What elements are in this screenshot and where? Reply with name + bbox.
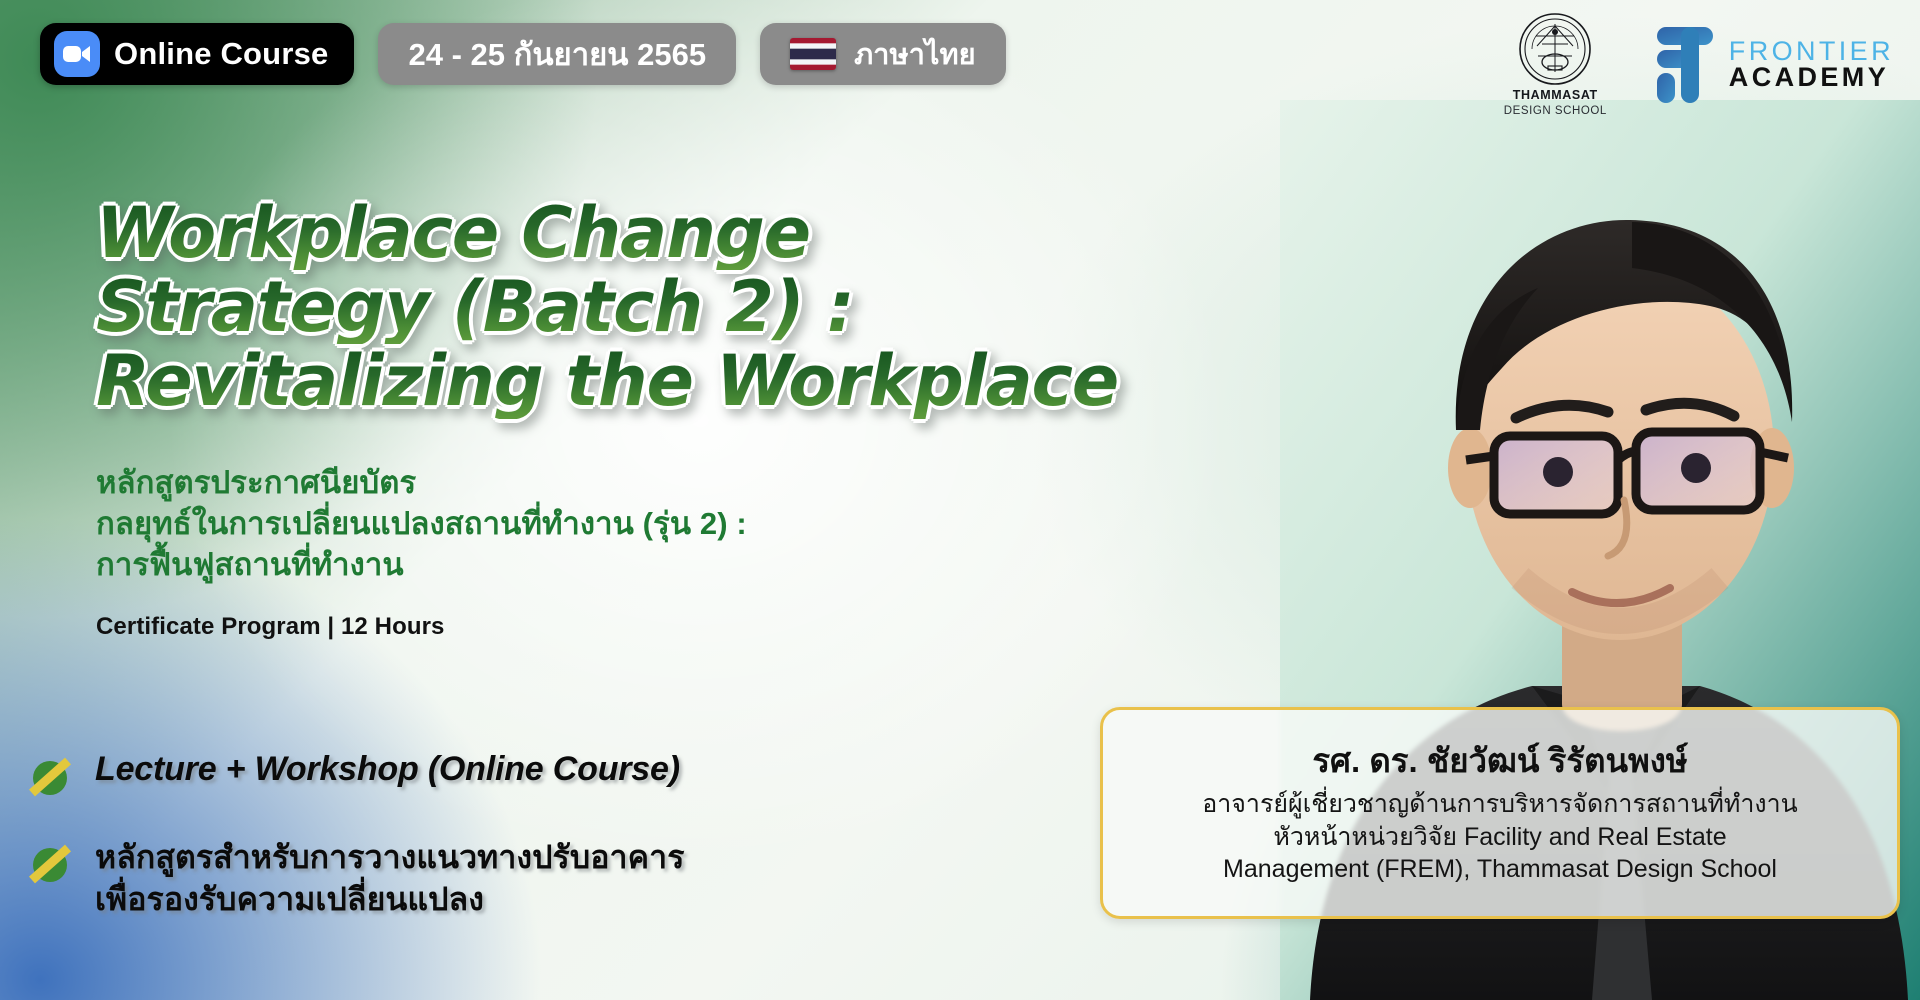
leaf-bullet-glyph [26, 753, 74, 801]
date-badge[interactable]: 24 - 25 กันยายน 2565 [378, 23, 736, 85]
page-title: Workplace Change Strategy (Batch 2) : Re… [96, 196, 1216, 419]
leaf-bullet-icon [26, 840, 74, 888]
thammasat-name: THAMMASAT [1513, 88, 1598, 103]
speaker-role-line1: อาจารย์ผู้เชี่ยวชาญด้านการบริหารจัดการสถ… [1202, 788, 1798, 821]
frontier-academy-logo: FRONTIER ACADEMY [1629, 19, 1894, 111]
bullet-text-thai: หลักสูตรสำหรับการวางแนวทางปรับอาคาร เพื่… [95, 837, 684, 920]
academy-word: ACADEMY [1729, 65, 1894, 91]
speaker-name: รศ. ดร. ชัยวัฒน์ ริรัตนพงษ์ [1312, 740, 1687, 781]
video-camera-icon [54, 31, 100, 77]
speaker-role-line3: Management (FREM), Thammasat Design Scho… [1223, 853, 1777, 886]
bullet-thai-line-2: เพื่อรองรับความเปลี่ยนแปลง [95, 879, 684, 921]
speaker-info-card: รศ. ดร. ชัยวัฒน์ ริรัตนพงษ์ อาจารย์ผู้เช… [1100, 707, 1900, 919]
title-line-1: Workplace Change [96, 196, 1216, 270]
list-item: Lecture + Workshop (Online Course) [26, 750, 926, 801]
subtitle-line-2: กลยุทธ์ในการเปลี่ยนแปลงสถานที่ทำงาน (รุ่… [96, 503, 747, 544]
title-line-3: Revitalizing the Workplace [96, 344, 1216, 418]
course-poster: Online Course 24 - 25 กันยายน 2565 ภาษาไ… [0, 0, 1920, 1000]
logo-group: THAMMASAT DESIGN SCHOOL FRONTIER ACADEMY [1504, 12, 1894, 118]
thai-subtitle: หลักสูตรประกาศนียบัตร กลยุทธ์ในการเปลี่ย… [96, 462, 747, 586]
ft-monogram-icon [1629, 19, 1721, 111]
bullet-text-lecture: Lecture + Workshop (Online Course) [95, 750, 680, 788]
thammasat-logo: THAMMASAT DESIGN SCHOOL [1504, 12, 1607, 118]
bullet-thai-line-1: หลักสูตรสำหรับการวางแนวทางปรับอาคาร [95, 837, 684, 879]
subtitle-line-3: การฟื้นฟูสถานที่ทำงาน [96, 544, 747, 585]
feature-bullet-list: Lecture + Workshop (Online Course) หลักส… [26, 750, 926, 956]
leaf-bullet-icon [26, 753, 74, 801]
thai-flag-glyph [790, 38, 836, 70]
speaker-role-line2: หัวหน้าหน่วยวิจัย Facility and Real Esta… [1273, 821, 1726, 854]
list-item: หลักสูตรสำหรับการวางแนวทางปรับอาคาร เพื่… [26, 837, 926, 920]
language-label: ภาษาไทย [854, 31, 976, 77]
thai-flag-icon [790, 38, 836, 70]
title-line-2: Strategy (Batch 2) : [96, 270, 1216, 344]
online-course-label: Online Course [114, 36, 328, 72]
online-course-badge[interactable]: Online Course [40, 23, 354, 85]
thammasat-subname: DESIGN SCHOOL [1504, 105, 1607, 118]
thammasat-seal-icon [1518, 12, 1592, 86]
top-badge-bar: Online Course 24 - 25 กันยายน 2565 ภาษาไ… [40, 23, 1006, 85]
certificate-hours-label: Certificate Program | 12 Hours [96, 613, 445, 641]
date-label: 24 - 25 กันยายน 2565 [408, 29, 706, 79]
video-camera-glyph [63, 44, 91, 64]
language-badge[interactable]: ภาษาไทย [760, 23, 1006, 85]
leaf-bullet-glyph [26, 840, 74, 888]
subtitle-line-1: หลักสูตรประกาศนียบัตร [96, 462, 747, 503]
